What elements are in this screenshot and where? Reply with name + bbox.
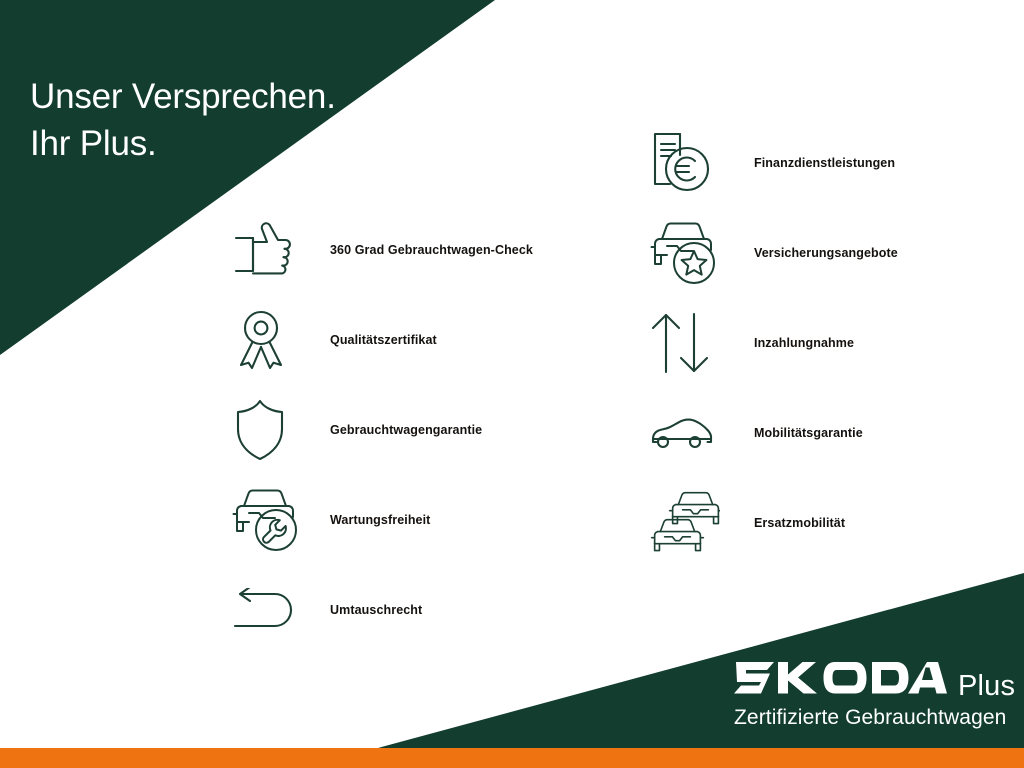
- skoda-plus-logo: Plus Zertifizierte Gebrauchtwagen: [734, 662, 1015, 730]
- feature-item-ersatzmobilitaet[interactable]: Ersatzmobilität: [650, 478, 1024, 568]
- feature-label: Umtauschrecht: [330, 603, 422, 617]
- feature-item-umtauschrecht[interactable]: Umtauschrecht: [232, 565, 632, 655]
- return-arrow-icon: [232, 575, 306, 645]
- feature-label: Finanzdienstleistungen: [754, 156, 895, 170]
- feature-item-qualitaetszertifikat[interactable]: Qualitätszertifikat: [232, 295, 632, 385]
- car-side-icon: [650, 398, 724, 468]
- feature-label: Qualitätszertifikat: [330, 333, 437, 347]
- skoda-wordmark-svg: [734, 662, 947, 695]
- document-euro-icon: [650, 128, 724, 198]
- feature-item-versicherungsangebote[interactable]: Versicherungsangebote: [650, 208, 1024, 298]
- feature-item-mobilitaetsgarantie[interactable]: Mobilitätsgarantie: [650, 388, 1024, 478]
- feature-list-left: 360 Grad Gebrauchtwagen-Check Qualitätsz…: [232, 205, 632, 655]
- slide-canvas: Unser Versprechen. Ihr Plus. 360 Grad Ge…: [0, 0, 1024, 768]
- car-wrench-icon: [232, 485, 306, 555]
- feature-label: Wartungsfreiheit: [330, 513, 430, 527]
- up-down-arrows-icon: [650, 308, 724, 378]
- feature-label: Versicherungsangebote: [754, 246, 898, 260]
- feature-item-wartungsfreiheit[interactable]: Wartungsfreiheit: [232, 475, 632, 565]
- car-star-icon: [650, 218, 724, 288]
- shield-icon: [232, 395, 306, 465]
- rosette-award-icon: [232, 305, 306, 375]
- logo-subtitle: Zertifizierte Gebrauchtwagen: [734, 706, 1015, 730]
- bottom-orange-bar: [0, 748, 1024, 768]
- feature-item-gebrauchtwagengarantie[interactable]: Gebrauchtwagengarantie: [232, 385, 632, 475]
- feature-label: Mobilitätsgarantie: [754, 426, 863, 440]
- feature-label: Gebrauchtwagengarantie: [330, 423, 482, 437]
- feature-item-inzahlungnahme[interactable]: Inzahlungnahme: [650, 298, 1024, 388]
- feature-item-gebrauchtwagen-check[interactable]: 360 Grad Gebrauchtwagen-Check: [232, 205, 632, 295]
- thumbs-up-icon: [232, 215, 306, 285]
- feature-label: Inzahlungnahme: [754, 336, 854, 350]
- feature-list-right: Finanzdienstleistungen Versicherungsange…: [650, 118, 1024, 568]
- headline-line-1: Unser Versprechen.: [30, 77, 336, 116]
- two-cars-icon: [650, 488, 724, 558]
- feature-item-finanzdienstleistungen[interactable]: Finanzdienstleistungen: [650, 118, 1024, 208]
- skoda-wordmark: [734, 662, 947, 699]
- logo-plus-text: Plus: [958, 672, 1015, 701]
- page-title: Unser Versprechen. Ihr Plus.: [30, 26, 336, 214]
- feature-label: Ersatzmobilität: [754, 516, 845, 530]
- headline-line-2: Ihr Plus.: [30, 120, 336, 167]
- feature-label: 360 Grad Gebrauchtwagen-Check: [330, 243, 533, 257]
- logo-wordmark-row: Plus: [734, 662, 1015, 701]
